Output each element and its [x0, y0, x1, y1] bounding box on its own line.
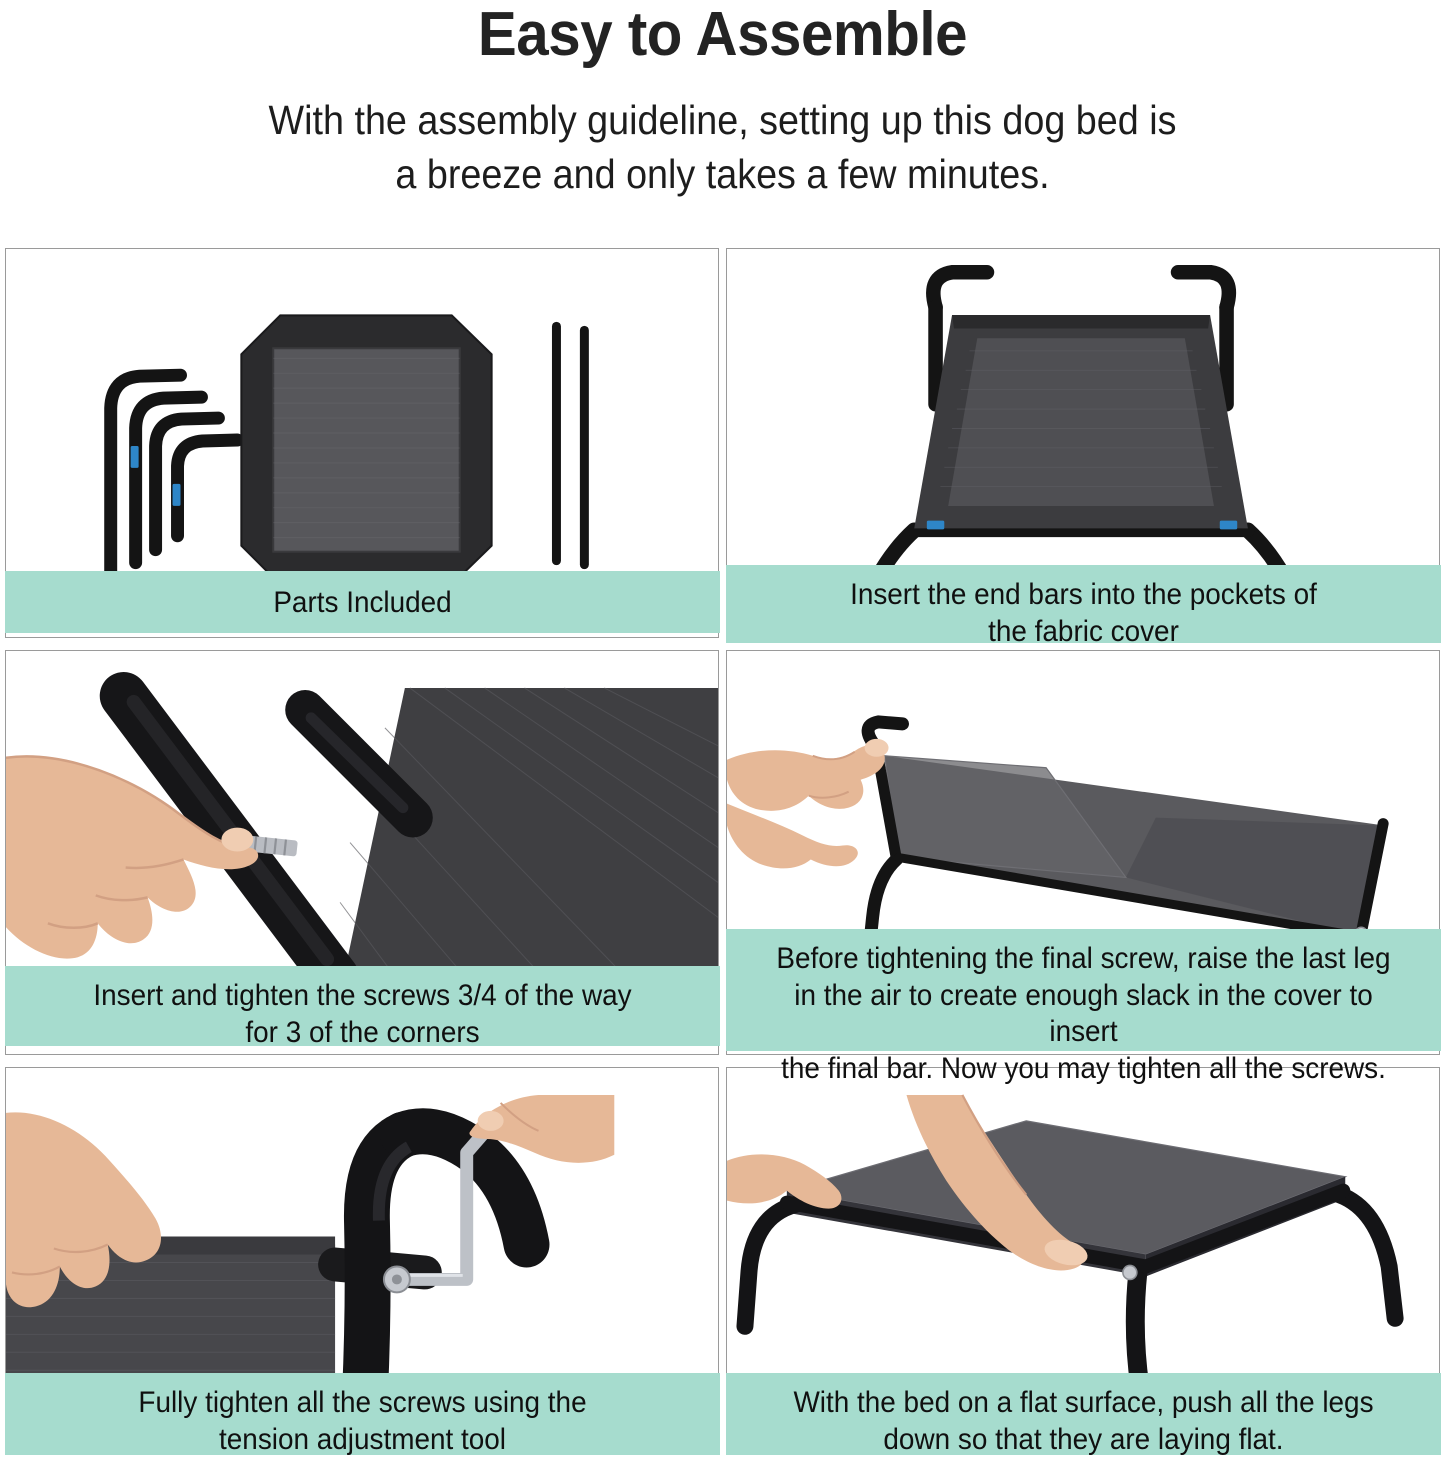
caption-line: in the air to create enough slack in the… [760, 978, 1406, 1051]
caption-line: the fabric cover [760, 614, 1406, 651]
caption-line: the final bar. Now you may tighten all t… [760, 1051, 1406, 1088]
panel-caption: Fully tighten all the screws using the t… [5, 1373, 720, 1455]
fabric-cover [241, 315, 491, 584]
mesh-cover [914, 315, 1248, 528]
panel-insert-end-bars: Insert the end bars into the pockets of … [726, 248, 1440, 638]
panel-caption: Insert and tighten the screws 3/4 of the… [5, 966, 720, 1046]
caption-line: Fully tighten all the screws using the [39, 1385, 685, 1422]
screw-head [1123, 1265, 1137, 1279]
caption-line: for 3 of the corners [39, 1015, 685, 1052]
caption-line: Insert the end bars into the pockets of [760, 577, 1406, 614]
panel-caption: With the bed on a flat surface, push all… [726, 1373, 1441, 1455]
panel-tighten-three-corners: Insert and tighten the screws 3/4 of the… [5, 650, 719, 1055]
caption-line: down so that they are laying flat. [760, 1422, 1406, 1458]
page-subtitle: With the assembly guideline, setting up … [58, 93, 1387, 201]
caption-line: Before tightening the final screw, raise… [760, 941, 1406, 978]
page-title: Easy to Assemble [43, 2, 1401, 67]
header: Easy to Assemble With the assembly guide… [0, 0, 1445, 201]
caption-line: Insert and tighten the screws 3/4 of the… [39, 978, 685, 1015]
panel-caption: Insert the end bars into the pockets of … [726, 565, 1441, 643]
panel-fully-tighten-screws: Fully tighten all the screws using the t… [5, 1067, 719, 1442]
steps-grid: Parts Included [5, 248, 1440, 1442]
caption-line: tension adjustment tool [39, 1422, 685, 1458]
panel-raise-last-leg: Before tightening the final screw, raise… [726, 650, 1440, 1055]
panel-parts-included: Parts Included [5, 248, 719, 638]
caption-line: Parts Included [39, 585, 685, 622]
panel-caption: Parts Included [5, 571, 720, 633]
subtitle-line-1: With the assembly guideline, setting up … [58, 93, 1387, 147]
subtitle-line-2: a breeze and only takes a few minutes. [58, 147, 1387, 201]
caption-line: With the bed on a flat surface, push all… [760, 1385, 1406, 1422]
panel-caption: Before tightening the final screw, raise… [726, 929, 1441, 1051]
panel-push-legs-flat: With the bed on a flat surface, push all… [726, 1067, 1440, 1442]
